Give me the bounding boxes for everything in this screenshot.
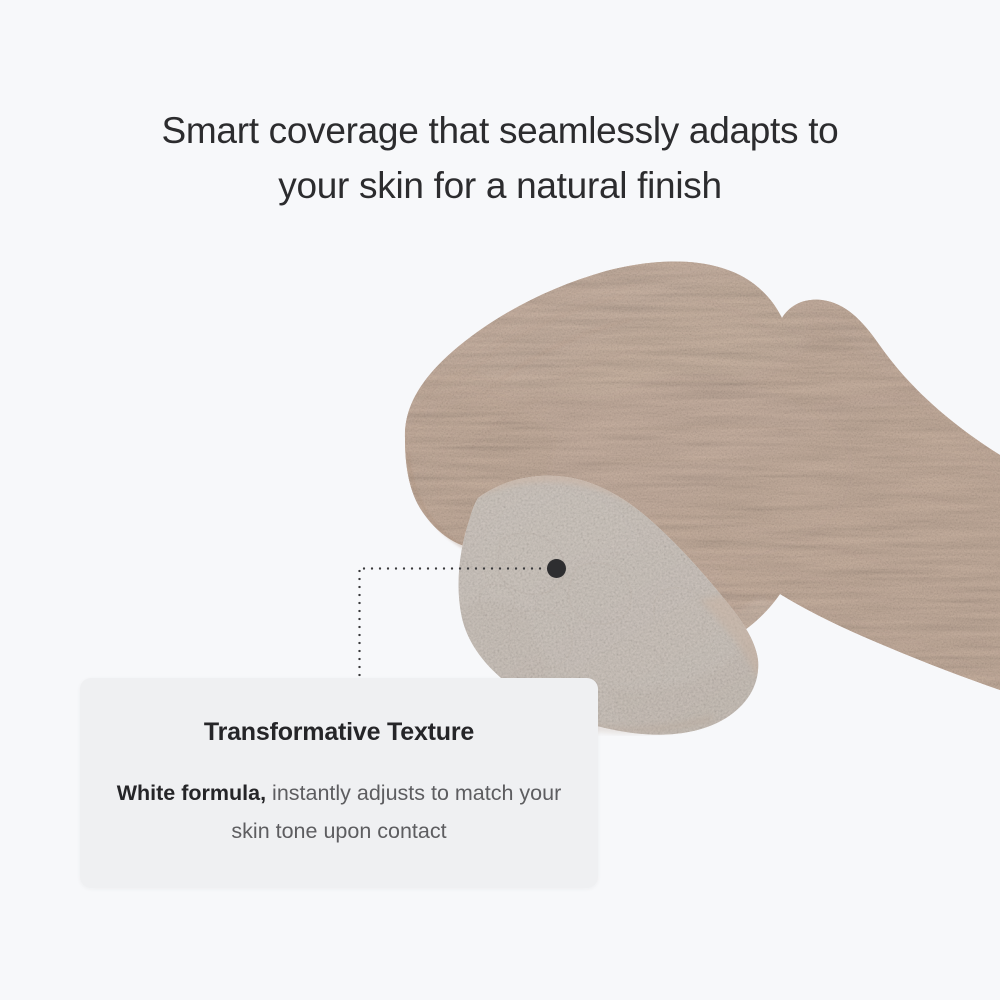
card-body-rest: instantly adjusts to match your skin ton… (231, 781, 561, 843)
card-body: White formula, instantly adjusts to matc… (80, 774, 598, 850)
callout-marker-dot (547, 559, 566, 578)
card-body-lead: White formula, (117, 781, 266, 805)
leader-horizontal-dotted-line (360, 567, 556, 570)
info-card: Transformative Texture White formula, in… (80, 678, 598, 888)
infographic-canvas: Smart coverage that seamlessly adapts to… (0, 0, 1000, 1000)
card-title: Transformative Texture (80, 718, 598, 747)
leader-vertical-dotted-line (358, 567, 361, 679)
